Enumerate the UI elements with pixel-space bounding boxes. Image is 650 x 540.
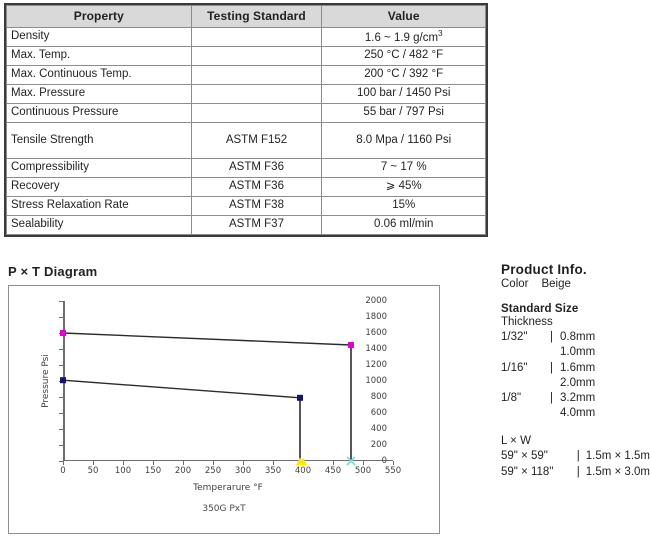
continuous-limit-curve-point-0 [60,377,66,383]
datasheet-page: Property Testing Standard Value Density1… [0,0,650,540]
cell-property: Continuous Pressure [7,104,192,123]
cell-value: ⩾ 45% [322,178,486,197]
thickness-metric: 3.2mm [560,391,650,406]
x-tick [273,461,274,465]
y-axis-label: Pressure Psi [41,354,51,408]
thickness-metric: 2.0mm [560,376,650,391]
thickness-row: 1/32"|0.8mm [501,330,650,345]
cell-testing-standard [191,66,322,85]
cell-testing-standard [191,28,322,47]
thickness-metric: 0.8mm [560,330,650,345]
x-tick-label: 200 [175,466,191,476]
chart-panel: Pressure Psi Temperarure °F 020040060080… [8,285,440,534]
thickness-row: 1.0mm [501,345,650,360]
x-tick [93,461,94,465]
thickness-separator [548,406,555,421]
x-tick [123,461,124,465]
cell-value: 8.0 Mpa / 1160 Psi [322,123,486,159]
thickness-separator: | [548,361,555,376]
table-row: Max. Pressure100 bar / 1450 Psi [7,85,486,104]
x-axis-label: Temperarure °F [193,483,263,493]
thickness-metric: 4.0mm [560,406,650,421]
x-tick [63,461,64,465]
thickness-separator [548,345,555,360]
series-plot [63,301,393,461]
x-tick [213,461,214,465]
thickness-row: 2.0mm [501,376,650,391]
table-body: Density1.6 ~ 1.9 g/cm3Max. Temp.250 °C /… [7,28,486,235]
thickness-label: Thickness [501,315,650,330]
length-width-label: L × W [501,434,650,449]
thickness-imperial: 1/16" [501,361,543,376]
lw-imperial: 59" × 59" [501,449,577,465]
specification-table: Property Testing Standard Value Density1… [6,5,486,235]
table-row: Max. Continuous Temp.200 °C / 392 °F [7,66,486,85]
thickness-imperial [501,345,543,360]
x-tick [183,461,184,465]
lw-separator: | [577,449,580,465]
cell-value: 200 °C / 392 °F [322,66,486,85]
table-header-row: Property Testing Standard Value [7,6,486,28]
thickness-separator [548,376,555,391]
x-tick [393,461,394,465]
cell-testing-standard: ASTM F37 [191,216,322,235]
x-tick [153,461,154,465]
standard-size-label: Standard Size [501,303,650,315]
x-tick-label: 450 [325,466,341,476]
x-tick-label: 300 [235,466,251,476]
continuous-limit-curve-line [63,380,300,398]
lw-metric: 1.5m × 3.0m [586,465,650,481]
cell-testing-standard: ASTM F36 [191,178,322,197]
column-header-property: Property [7,6,192,28]
thickness-row: 1/16"|1.6mm [501,361,650,376]
table-row: CompressibilityASTM F367 ~ 17 % [7,159,486,178]
table-row: Max. Temp.250 °C / 482 °F [7,47,486,66]
cell-value: 0.06 ml/min [322,216,486,235]
plot-area: Pressure Psi Temperarure °F 020040060080… [63,301,393,461]
spacer [501,290,650,303]
x-tick-label: 350 [265,466,281,476]
cell-property: Max. Pressure [7,85,192,104]
x-tick-label: 100 [115,466,131,476]
cell-testing-standard: ASTM F152 [191,123,322,159]
table-row: Tensile StrengthASTM F1528.0 Mpa / 1160 … [7,123,486,159]
color-value: Beige [541,278,570,290]
lw-separator: | [577,465,580,481]
product-info-title: Product Info. [501,262,650,277]
length-width-row: 59" × 118"|1.5m × 3.0m [501,465,650,481]
cell-testing-standard: ASTM F36 [191,159,322,178]
cell-testing-standard [191,47,322,66]
cell-property: Sealability [7,216,192,235]
cell-property: Stress Relaxation Rate [7,197,192,216]
table-row: SealabilityASTM F370.06 ml/min [7,216,486,235]
table-header: Property Testing Standard Value [7,6,486,28]
lw-metric: 1.5m × 1.5m [586,449,650,465]
thickness-separator: | [548,330,555,345]
length-width-row: 59" × 59"|1.5m × 1.5m [501,449,650,465]
upper-limit-curve-point-1 [348,342,354,348]
continuous-limit-curve [60,377,304,465]
thickness-row: 4.0mm [501,406,650,421]
thickness-row: 1/8"|3.2mm [501,391,650,406]
x-tick [243,461,244,465]
table-row: Stress Relaxation RateASTM F3815% [7,197,486,216]
cell-property: Compressibility [7,159,192,178]
cell-testing-standard: ASTM F38 [191,197,322,216]
thickness-imperial: 1/32" [501,330,543,345]
cell-value: 55 bar / 797 Psi [322,104,486,123]
upper-limit-curve [60,330,355,465]
x-tick-label: 50 [88,466,99,476]
thickness-list: 1/32"|0.8mm1.0mm1/16"|1.6mm2.0mm1/8"|3.2… [501,330,650,421]
x-tick-label: 550 [385,466,401,476]
cell-property: Max. Temp. [7,47,192,66]
length-width-list: 59" × 59"|1.5m × 1.5m59" × 118"|1.5m × 3… [501,449,650,480]
color-label: Color [501,278,528,290]
cell-value: 100 bar / 1450 Psi [322,85,486,104]
cell-testing-standard [191,104,322,123]
thickness-metric: 1.6mm [560,361,650,376]
spacer [501,421,650,434]
cell-property: Density [7,28,192,47]
x-tick-label: 0 [60,466,65,476]
x-tick [333,461,334,465]
column-header-testing-standard: Testing Standard [191,6,322,28]
lw-imperial: 59" × 118" [501,465,577,481]
cell-value-text: 1.6 ~ 1.9 g/cm [365,32,438,44]
cell-value: 250 °C / 482 °F [322,47,486,66]
specification-table-container: Property Testing Standard Value Density1… [4,3,488,237]
cell-value: 1.6 ~ 1.9 g/cm3 [322,28,486,47]
chart-title: P × T Diagram [8,264,97,279]
chart-caption: 350G PxT [9,504,439,514]
table-row: Density1.6 ~ 1.9 g/cm3 [7,28,486,47]
x-tick-label: 400 [295,466,311,476]
thickness-imperial: 1/8" [501,391,543,406]
upper-limit-curve-line [63,333,351,345]
cell-value-superscript: 3 [438,29,442,38]
cell-value: 15% [322,197,486,216]
product-info-panel: Product Info. Color Beige Standard Size … [501,262,650,480]
thickness-metric: 1.0mm [560,345,650,360]
color-row: Color Beige [501,278,650,290]
table-row: Continuous Pressure55 bar / 797 Psi [7,104,486,123]
upper-limit-curve-point-0 [60,330,66,336]
cell-property: Tensile Strength [7,123,192,159]
thickness-separator: | [548,391,555,406]
cell-property: Recovery [7,178,192,197]
thickness-imperial [501,406,543,421]
table-row: RecoveryASTM F36⩾ 45% [7,178,486,197]
cell-property: Max. Continuous Temp. [7,66,192,85]
x-tick-label: 500 [355,466,371,476]
column-header-value: Value [322,6,486,28]
cell-value: 7 ~ 17 % [322,159,486,178]
x-tick [363,461,364,465]
cell-testing-standard [191,85,322,104]
x-tick-label: 150 [145,466,161,476]
x-tick-label: 250 [205,466,221,476]
thickness-imperial [501,376,543,391]
continuous-limit-curve-point-1 [297,395,303,401]
